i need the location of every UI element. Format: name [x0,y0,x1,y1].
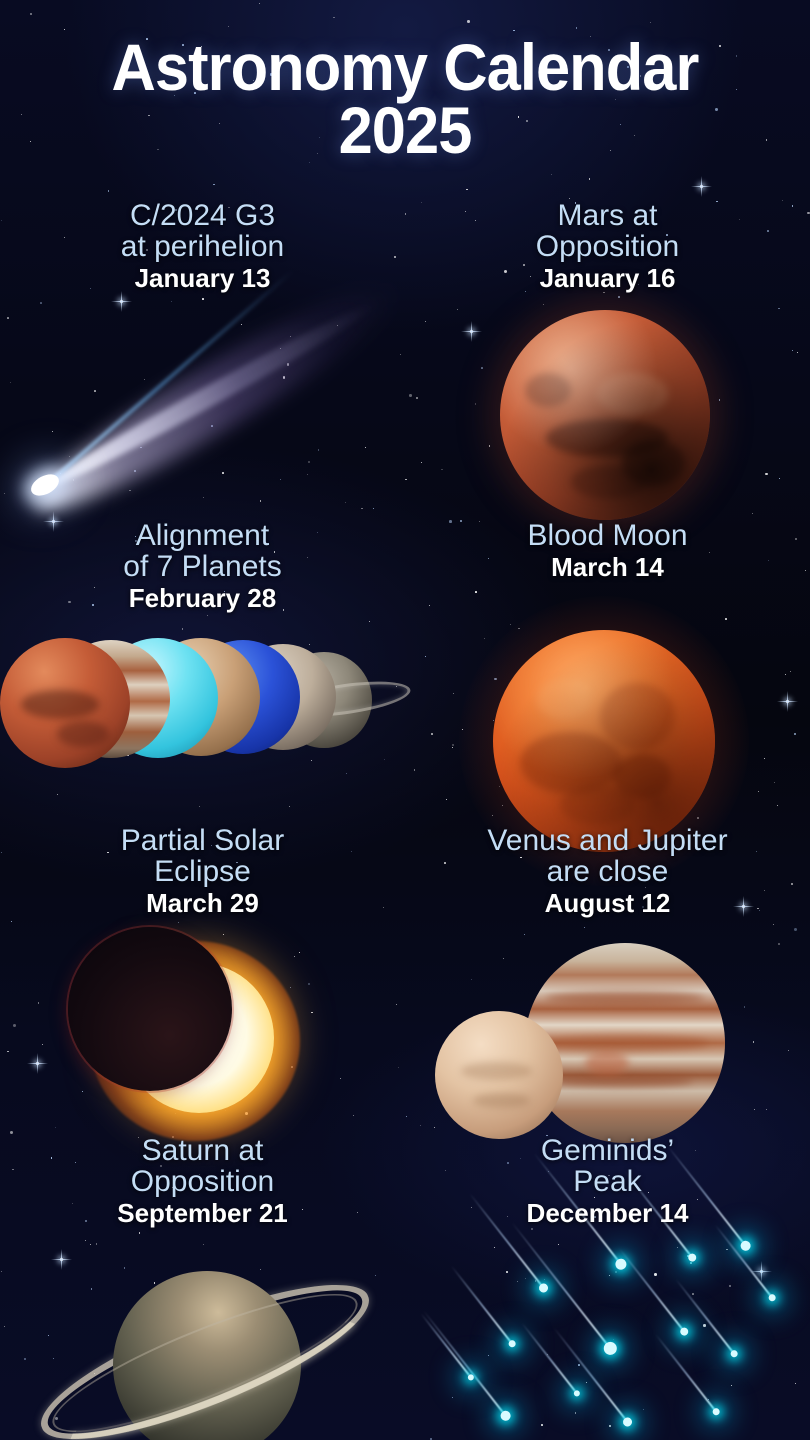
event-caption: Venus and Jupiter are close August 12 [405,825,810,919]
event-date: February 28 [8,584,397,614]
event-name-line-2: are close [413,856,802,887]
event-name-line-2: Opposition [413,231,802,262]
saturn-planet-icon [35,1235,375,1440]
event-caption: Blood Moon March 14 [405,520,810,583]
event-date: September 21 [8,1199,397,1229]
event-name-line-1: Geminids’ [413,1135,802,1166]
event-card-saturn[interactable]: Saturn at Opposition September 21 [0,1135,405,1440]
astronomy-calendar-poster: Astronomy Calendar 2025 C/2024 G3 at per… [0,0,810,1440]
event-caption: Partial Solar Eclipse March 29 [0,825,405,919]
event-card-blood-moon[interactable]: Blood Moon March 14 [405,520,810,810]
event-date: August 12 [413,889,802,919]
solar-eclipse-icon [50,935,380,1145]
event-card-planet-alignment[interactable]: Alignment of 7 Planets February 28 [0,520,405,810]
event-date: December 14 [413,1199,802,1229]
event-caption: Geminids’ Peak December 14 [405,1135,810,1229]
planet-alignment-icon [0,630,405,780]
event-card-geminids[interactable]: Geminids’ Peak December 14 [405,1135,810,1440]
title-line-1: Astronomy Calendar [28,36,781,99]
event-caption: C/2024 G3 at perihelion January 13 [0,200,405,294]
event-name-line-2: at perihelion [8,231,397,262]
event-date: March 14 [413,553,802,583]
event-caption: Alignment of 7 Planets February 28 [0,520,405,614]
venus-jupiter-icon [425,943,765,1143]
event-name-line-2: Peak [413,1166,802,1197]
event-name-line-2: Opposition [8,1166,397,1197]
mars-planet-icon [500,310,710,520]
event-name-line-2: of 7 Planets [8,551,397,582]
event-card-comet[interactable]: C/2024 G3 at perihelion January 13 [0,200,405,500]
page-title: Astronomy Calendar 2025 [0,36,810,163]
event-card-mars[interactable]: Mars at Opposition January 16 [405,200,810,500]
event-name-line-1: Blood Moon [413,520,802,551]
blood-moon-icon [493,630,715,852]
title-line-2: 2025 [28,99,781,162]
event-name-line-1: Alignment [8,520,397,551]
event-date: March 29 [8,889,397,919]
event-date: January 13 [8,264,397,294]
event-date: January 16 [413,264,802,294]
event-card-solar-eclipse[interactable]: Partial Solar Eclipse March 29 [0,825,405,1135]
event-name-line-1: Saturn at [8,1135,397,1166]
event-name-line-1: Mars at [413,200,802,231]
event-name-line-1: Venus and Jupiter [413,825,802,856]
meteor-shower-icon [415,1230,810,1440]
event-name-line-2: Eclipse [8,856,397,887]
event-name-line-1: Partial Solar [8,825,397,856]
event-name-line-1: C/2024 G3 [8,200,397,231]
event-caption: Saturn at Opposition September 21 [0,1135,405,1229]
event-caption: Mars at Opposition January 16 [405,200,810,294]
event-card-venus-jupiter[interactable]: Venus and Jupiter are close August 12 [405,825,810,1135]
